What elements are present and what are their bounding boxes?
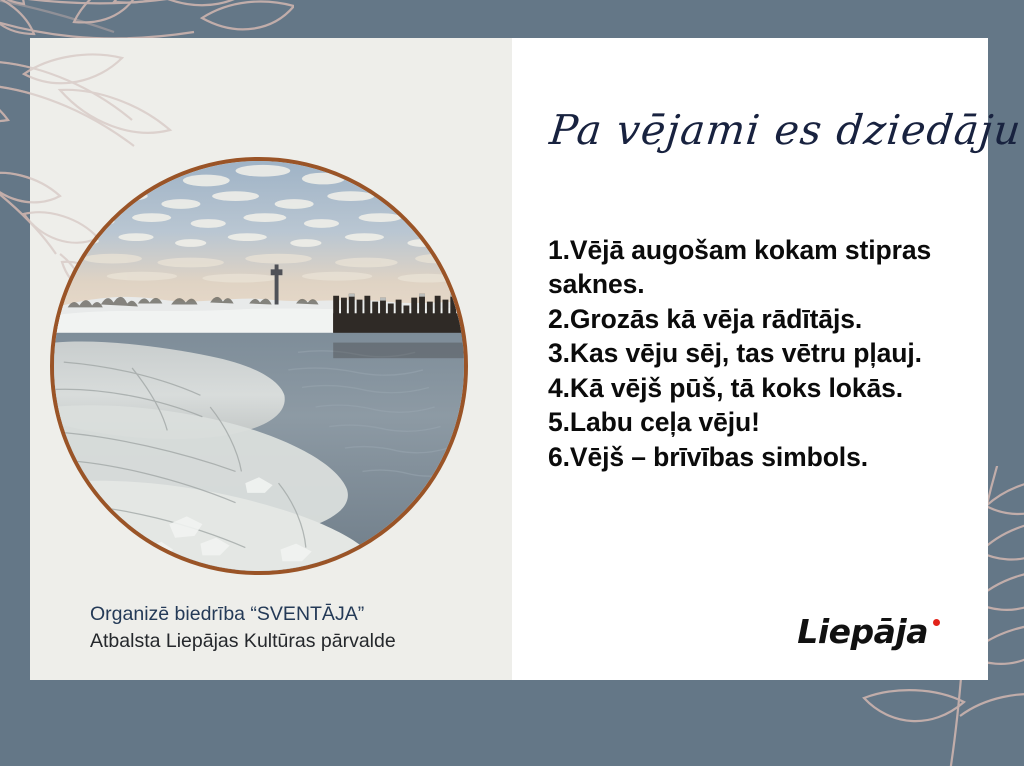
- list-item-number: 6.: [548, 442, 570, 472]
- list-item: 4.Kā vējš pūš, tā koks lokās.: [548, 371, 978, 405]
- list-item-text: Grozās kā vēja rādītājs.: [570, 304, 862, 334]
- list-item: 6.Vējš – brīvības simbols.: [548, 440, 978, 474]
- list-item: 5.Labu ceļa vēju!: [548, 405, 978, 439]
- poster-left-panel: Organizē biedrība “SVENTĀJA” Atbalsta Li…: [30, 38, 512, 680]
- list-item-text: Kā vējš pūš, tā koks lokās.: [570, 373, 903, 403]
- list-item-number: 2.: [548, 304, 570, 334]
- list-item: 3.Kas vēju sēj, tas vētru pļauj.: [548, 336, 978, 370]
- poster-right-panel: Pa vējami es dziedāju 1.Vējā augošam kok…: [512, 38, 988, 680]
- list-item-number: 4.: [548, 373, 570, 403]
- list-item-number: 3.: [548, 338, 570, 368]
- list-item-number: 1.: [548, 235, 570, 265]
- list-item-text: Kas vēju sēj, tas vētru pļauj.: [570, 338, 922, 368]
- red-dot-icon: [933, 619, 940, 626]
- page-title: Pa vējami es dziedāju: [547, 106, 1023, 154]
- winter-coast-photo: [54, 161, 464, 571]
- supporter-text: Atbalsta Liepājas Kultūras pārvalde: [90, 628, 396, 656]
- list-item-text: Vējā augošam kokam stipras saknes.: [548, 235, 931, 299]
- captions-block: Organizē biedrība “SVENTĀJA” Atbalsta Li…: [90, 601, 396, 656]
- circular-photo: [50, 157, 468, 575]
- liepaja-logo-text: Liepāja: [797, 615, 928, 648]
- list-item: 2.Grozās kā vēja rādītājs.: [548, 302, 978, 336]
- organizer-text: Organizē biedrība “SVENTĀJA”: [90, 601, 396, 629]
- poster-card: Organizē biedrība “SVENTĀJA” Atbalsta Li…: [30, 38, 988, 680]
- list-item-text: Vējš – brīvības simbols.: [570, 442, 868, 472]
- liepaja-logo: Liepāja: [797, 615, 940, 648]
- list-item: 1.Vējā augošam kokam stipras saknes.: [548, 233, 978, 302]
- proverb-list: 1.Vējā augošam kokam stipras saknes. 2.G…: [548, 233, 978, 474]
- list-item-number: 5.: [548, 407, 570, 437]
- list-item-text: Labu ceļa vēju!: [570, 407, 760, 437]
